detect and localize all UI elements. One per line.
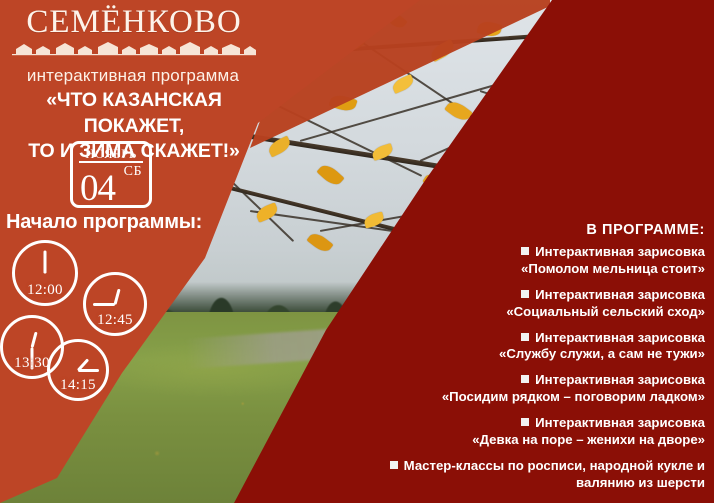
clock-minute-hand bbox=[44, 250, 47, 273]
program-item-line1: Интерактивная зарисовка bbox=[535, 330, 705, 345]
bullet-icon bbox=[521, 333, 529, 341]
program-list: В ПРОГРАММЕ: Интерактивная зарисовка «По… bbox=[305, 222, 705, 503]
program-item-line2: «Посидим рядком – поговорим ладком» bbox=[305, 389, 705, 406]
program-item: Мастер-классы по росписи, народной кукле… bbox=[305, 458, 705, 492]
program-heading: В ПРОГРАММЕ: bbox=[305, 222, 705, 238]
clock-time-label: 12:45 bbox=[86, 312, 144, 329]
clock-time-label: 14:15 bbox=[50, 377, 106, 394]
clock-hour-hand bbox=[31, 331, 38, 347]
clock-time-1: 12:00 bbox=[12, 240, 78, 306]
date-badge: НОЯБРЬ СБ 04 bbox=[70, 141, 152, 208]
bullet-icon bbox=[521, 418, 529, 426]
clock-time-label: 12:00 bbox=[15, 282, 75, 299]
clock-hour-hand bbox=[114, 288, 121, 304]
program-item-line1: Интерактивная зарисовка bbox=[535, 372, 705, 387]
title-line-1: «ЧТО КАЗАНСКАЯ ПОКАЖЕТ, bbox=[46, 89, 222, 137]
bullet-icon bbox=[521, 375, 529, 383]
program-item-line1: Интерактивная зарисовка bbox=[535, 415, 705, 430]
program-item: Интерактивная зарисовка «Помолом мельниц… bbox=[305, 244, 705, 278]
clock-time-2: 12:45 bbox=[83, 272, 147, 336]
logo-wordmark: СЕМЁНКОВО bbox=[12, 6, 256, 39]
program-item-line1: Интерактивная зарисовка bbox=[535, 287, 705, 302]
badge-month: НОЯБРЬ bbox=[79, 146, 143, 163]
program-item-line2: «Помолом мельница стоит» bbox=[305, 261, 705, 278]
badge-weekday: СБ bbox=[124, 164, 142, 180]
program-item-line2: «Службу служи, а сам не тужи» bbox=[305, 346, 705, 363]
program-item: Интерактивная зарисовка «Посидим рядком … bbox=[305, 372, 705, 406]
program-subtitle: интерактивная программа bbox=[0, 66, 266, 86]
program-item-line2: «Девка на поре – женихи на дворе» bbox=[305, 432, 705, 449]
poster: СЕМЁНКОВО интерактивная программа «ЧТО К… bbox=[0, 0, 714, 503]
program-item-line1: Интерактивная зарисовка bbox=[535, 244, 705, 259]
schedule-label: Начало программы: bbox=[6, 211, 202, 234]
program-item: Интерактивная зарисовка «Службу служи, а… bbox=[305, 330, 705, 364]
bullet-icon bbox=[521, 290, 529, 298]
program-item: Интерактивная зарисовка «Девка на поре –… bbox=[305, 415, 705, 449]
clock-minute-hand bbox=[78, 369, 99, 372]
program-item-line2: «Социальный сельский сход» bbox=[305, 304, 705, 321]
village-silhouette-icon bbox=[12, 41, 256, 57]
program-item-line1: Мастер-классы по росписи, народной кукле… bbox=[404, 458, 705, 473]
bullet-icon bbox=[521, 247, 529, 255]
program-item-line2: валянию из шерсти bbox=[305, 475, 705, 492]
bullet-icon bbox=[390, 461, 398, 469]
badge-day: 04 bbox=[80, 170, 115, 207]
clock-minute-hand bbox=[93, 303, 115, 306]
clock-time-4: 14:15 bbox=[47, 339, 109, 401]
program-item: Интерактивная зарисовка «Социальный сель… bbox=[305, 287, 705, 321]
logo: СЕМЁНКОВО bbox=[12, 6, 256, 62]
